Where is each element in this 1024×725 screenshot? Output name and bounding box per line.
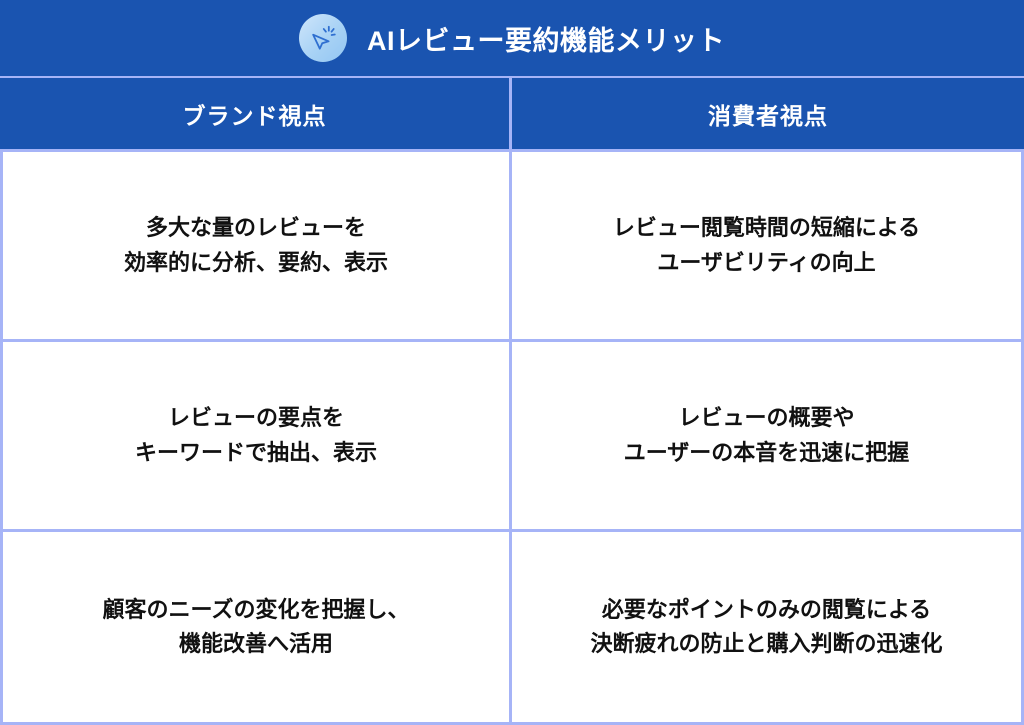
cell-line: 決断疲れの防止と購入判断の迅速化	[590, 627, 942, 661]
column-header-brand: ブランド視点	[0, 78, 512, 149]
cell-line: レビューの要点を	[135, 401, 377, 435]
table-body: 多大な量のレビューを 効率的に分析、要約、表示 レビュー閲覧時間の短縮による ユ…	[0, 152, 1024, 725]
cell-line: 機能改善へ活用	[103, 627, 410, 661]
cell-line: ユーザビリティの向上	[613, 246, 920, 280]
cell-line: レビューの概要や	[624, 401, 910, 435]
cell-line: 必要なポイントのみの閲覧による	[590, 593, 942, 627]
cell-consumer-1: レビュー閲覧時間の短縮による ユーザビリティの向上	[512, 152, 1021, 339]
cell-consumer-2: レビューの概要や ユーザーの本音を迅速に把握	[512, 342, 1021, 529]
ai-cursor-sparkle-icon	[299, 14, 347, 62]
table-row: 多大な量のレビューを 効率的に分析、要約、表示 レビュー閲覧時間の短縮による ユ…	[3, 152, 1021, 342]
cell-line: 顧客のニーズの変化を把握し、	[103, 593, 410, 627]
ai-review-summary-benefits-table: AIレビュー要約機能メリット ブランド視点 消費者視点 多大な量のレビューを 効…	[0, 0, 1024, 725]
table-row: 顧客のニーズの変化を把握し、 機能改善へ活用 必要なポイントのみの閲覧による 決…	[3, 532, 1021, 722]
cell-brand-3: 顧客のニーズの変化を把握し、 機能改善へ活用	[3, 532, 512, 722]
cell-line: 効率的に分析、要約、表示	[124, 246, 388, 280]
table-title-band: AIレビュー要約機能メリット	[0, 0, 1024, 78]
column-header-row: ブランド視点 消費者視点	[0, 78, 1024, 152]
cell-line: ユーザーの本音を迅速に把握	[624, 436, 910, 470]
cell-line: キーワードで抽出、表示	[135, 436, 377, 470]
cell-brand-1: 多大な量のレビューを 効率的に分析、要約、表示	[3, 152, 512, 339]
page-title: AIレビュー要約機能メリット	[367, 19, 725, 58]
cell-brand-2: レビューの要点を キーワードで抽出、表示	[3, 342, 512, 529]
cell-line: 多大な量のレビューを	[124, 211, 388, 245]
cell-line: レビュー閲覧時間の短縮による	[613, 211, 920, 245]
table-row: レビューの要点を キーワードで抽出、表示 レビューの概要や ユーザーの本音を迅速…	[3, 342, 1021, 532]
column-header-consumer: 消費者視点	[512, 78, 1024, 149]
cell-consumer-3: 必要なポイントのみの閲覧による 決断疲れの防止と購入判断の迅速化	[512, 532, 1021, 722]
